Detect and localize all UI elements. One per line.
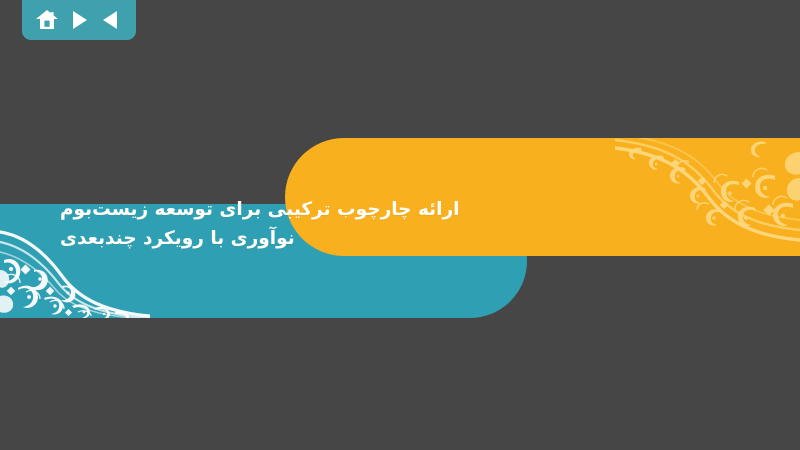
navigation-bar [22,0,136,40]
home-icon [35,9,59,31]
slide-canvas: ارائه چارچوب ترکیبی برای توسعه زیست‌بوم … [0,0,800,450]
triangle-right-icon [70,10,88,30]
slide-title-block: ارائه چارچوب ترکیبی برای توسعه زیست‌بوم … [0,0,800,450]
title-line-2: نوآوری با رویکرد چندبعدی [60,225,295,254]
title-line-1: ارائه چارچوب ترکیبی برای توسعه زیست‌بوم [60,196,459,225]
home-button[interactable] [32,6,62,34]
triangle-left-icon [102,10,120,30]
previous-slide-button[interactable] [96,6,126,34]
next-slide-button[interactable] [64,6,94,34]
